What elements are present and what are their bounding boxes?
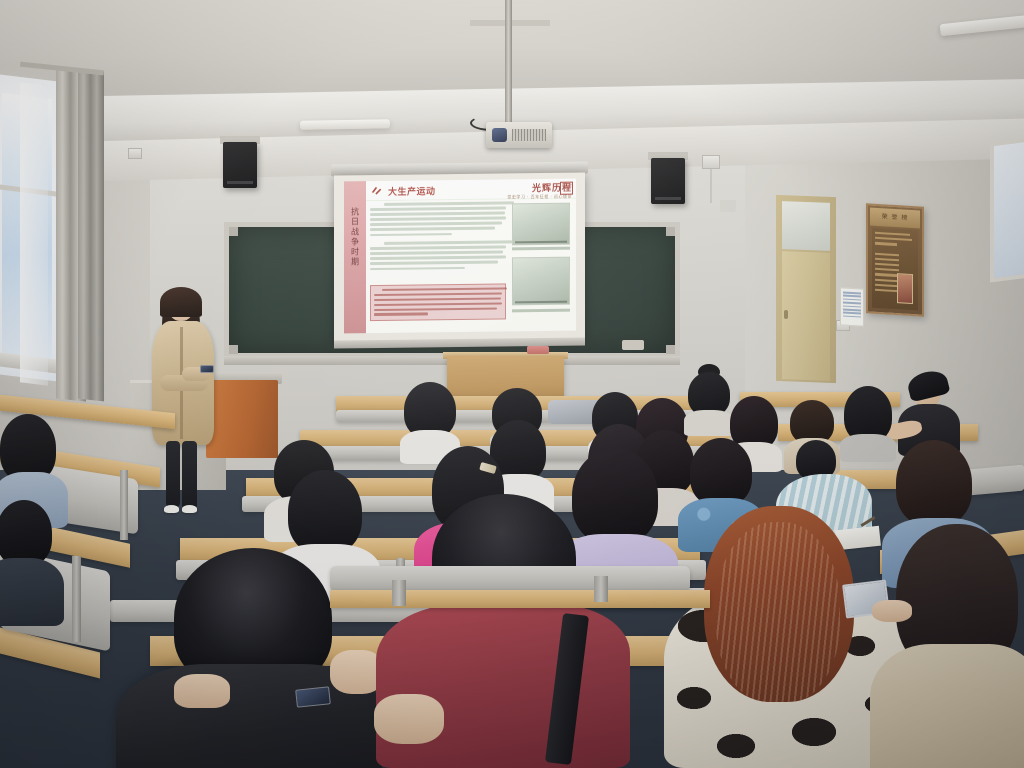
chalkboard-clip-tr bbox=[666, 227, 675, 236]
slide-brand-stamp: 党史 bbox=[560, 182, 573, 195]
student-phone[interactable] bbox=[295, 686, 331, 707]
chalkboard-clip-br bbox=[666, 345, 675, 354]
party-emblem-icon bbox=[370, 185, 383, 197]
lectern-object bbox=[527, 346, 549, 354]
slide-body-text bbox=[370, 201, 506, 272]
left-wall-switch[interactable] bbox=[128, 148, 142, 159]
slide-photo-bottom bbox=[512, 257, 570, 306]
wall-speaker-left bbox=[223, 142, 257, 188]
door-transom-window bbox=[782, 201, 830, 251]
slide-photo-top-caption bbox=[512, 247, 570, 251]
student-hair bbox=[572, 448, 658, 544]
door-notice-sheet bbox=[840, 287, 864, 326]
honor-roll-poster: 荣 誉 榜 bbox=[866, 203, 924, 316]
poster-portrait-photo bbox=[897, 273, 913, 304]
sheer-curtain[interactable] bbox=[20, 82, 48, 385]
slide-side-banner: 抗日战争时期 bbox=[344, 181, 366, 333]
student-hair bbox=[288, 470, 362, 554]
door-handle-icon[interactable] bbox=[784, 310, 788, 319]
fluorescent-light-back-icon bbox=[300, 119, 390, 130]
poster-header: 荣 誉 榜 bbox=[870, 208, 920, 229]
wall-sensor-icon bbox=[720, 200, 736, 212]
student-hand-left bbox=[174, 674, 230, 708]
wall-speaker-right bbox=[651, 158, 685, 204]
student-hand-tablet bbox=[872, 600, 912, 622]
instructor-hair-front bbox=[160, 287, 202, 317]
screen-canvas: 抗日战争时期 大生产运动 光辉历程 党史学习 · 百年征程 · 初心使命 党史 bbox=[334, 172, 585, 341]
wall-conduit bbox=[710, 169, 712, 203]
desk-leg-left-1 bbox=[120, 470, 128, 540]
projected-slide: 抗日战争时期 大生产运动 光辉历程 党史学习 · 百年征程 · 初心使命 党史 bbox=[344, 179, 576, 334]
chalkboard-clip-bl bbox=[229, 345, 238, 354]
classroom-door[interactable] bbox=[782, 251, 830, 381]
wall-junction-box bbox=[702, 155, 720, 169]
curtain-panel-outer[interactable] bbox=[78, 69, 104, 402]
student-hair bbox=[896, 440, 972, 526]
classroom-photo: 抗日战争时期 大生产运动 光辉历程 党史学习 · 百年征程 · 初心使命 党史 bbox=[0, 0, 1024, 768]
student-hair bbox=[690, 438, 752, 506]
bench-rail-front bbox=[330, 566, 690, 592]
instructor-leg-right bbox=[182, 441, 197, 509]
student-torso bbox=[870, 644, 1024, 768]
instructor-shoe-right bbox=[182, 505, 197, 513]
slide-photo-bottom-caption bbox=[512, 309, 570, 313]
poster-title: 荣 誉 榜 bbox=[870, 208, 920, 229]
desk-front-edge bbox=[330, 590, 710, 608]
student-hair bbox=[0, 500, 52, 566]
instructor-leg-left bbox=[166, 441, 180, 507]
slide-brand-logo: 光辉历程 党史学习 · 百年征程 · 初心使命 党史 bbox=[507, 181, 572, 201]
bench-bracket bbox=[392, 580, 406, 606]
slide-side-banner-text: 抗日战争时期 bbox=[350, 207, 361, 267]
projection-screen[interactable]: 抗日战争时期 大生产运动 光辉历程 党史学习 · 百年征程 · 初心使命 党史 bbox=[331, 163, 588, 353]
right-window bbox=[990, 138, 1024, 283]
poster-body bbox=[872, 228, 918, 311]
student-torso bbox=[840, 434, 896, 462]
student-arm bbox=[374, 694, 444, 744]
student-torso bbox=[0, 558, 64, 626]
desk-leg-left-2 bbox=[72, 556, 81, 642]
projector-vent bbox=[512, 129, 546, 141]
slide-title: 大生产运动 bbox=[388, 184, 436, 198]
projector-mount-pole bbox=[505, 0, 512, 122]
student-torso bbox=[684, 410, 734, 436]
instructor-shoe-left bbox=[164, 505, 179, 513]
projector-lens-icon bbox=[492, 128, 507, 142]
chalkboard-clip-tl bbox=[229, 227, 238, 236]
eraser[interactable] bbox=[622, 340, 644, 350]
student-hair-highlights bbox=[716, 522, 840, 704]
slide-photo-top bbox=[512, 203, 570, 246]
slide-callout-box bbox=[370, 283, 506, 321]
bench-bracket-2 bbox=[594, 576, 608, 602]
instructor-phone[interactable] bbox=[200, 365, 214, 373]
